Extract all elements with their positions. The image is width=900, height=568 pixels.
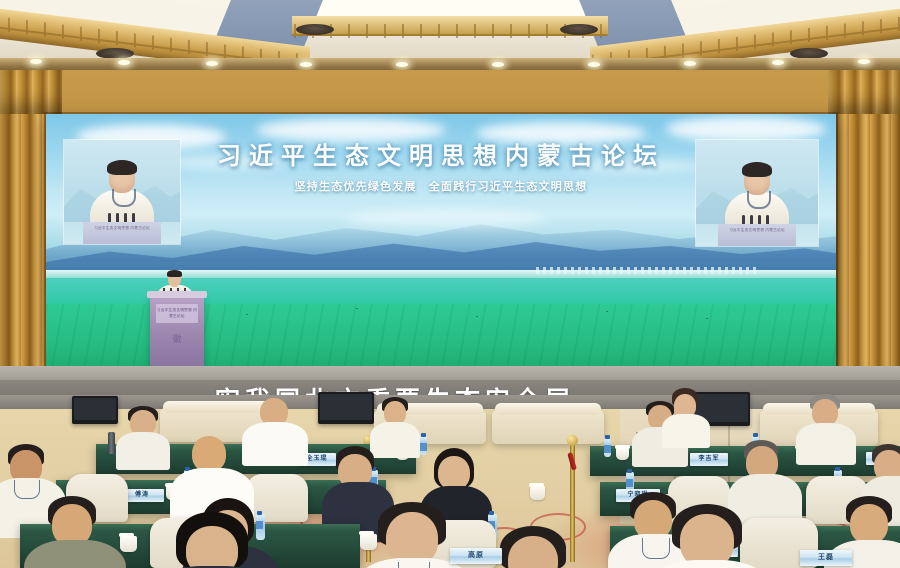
pip-podium-text: 习近平生态文明思想 内蒙古论坛 xyxy=(718,224,796,233)
pip-speaker-hair xyxy=(742,162,772,177)
tea-cup xyxy=(616,448,629,460)
curtain-valance-right xyxy=(828,70,900,114)
tea-cup xyxy=(120,536,137,552)
pip-speaker xyxy=(90,163,154,224)
cornice-center xyxy=(292,16,608,36)
podium-top xyxy=(147,291,207,298)
water-bottle xyxy=(256,514,265,540)
pip-podium-text: 习近平生态文明思想 内蒙古论坛 xyxy=(83,222,161,231)
downlight-icon xyxy=(206,61,218,66)
tea-cup xyxy=(360,534,377,550)
downlight-icon xyxy=(118,60,130,65)
nameplate: 王磊 xyxy=(800,550,852,566)
downlight-icon xyxy=(30,59,42,64)
downlight-icon xyxy=(588,62,600,67)
stage-monitor xyxy=(72,396,118,424)
lanyard-icon xyxy=(112,189,136,207)
right-pip-screen: 习近平生态文明思想 内蒙古论坛 xyxy=(696,140,818,246)
speaker-podium: 习近平生态文明思想 内蒙古论坛 徽 xyxy=(150,296,204,368)
left-pip-screen: 习近平生态文明思想 内蒙古论坛 xyxy=(64,140,180,244)
podium-emblem-icon: 徽 xyxy=(166,332,188,358)
seat-backrest xyxy=(495,403,601,415)
downlight-icon xyxy=(396,62,408,67)
lanyard-icon xyxy=(747,191,771,209)
podium-sign-text: 习近平生态文明思想 内蒙古论坛 xyxy=(156,304,198,323)
stanchion-finial-icon xyxy=(567,435,578,446)
tea-cup xyxy=(530,486,545,500)
ceiling-speaker-icon xyxy=(296,24,334,35)
nameplate: 李吉军 xyxy=(690,453,728,466)
downlight-icon xyxy=(772,60,784,65)
speaker-hair xyxy=(167,270,182,277)
ceiling-speaker-icon xyxy=(560,24,598,35)
thermos-flask xyxy=(108,432,115,454)
curtain-valance-left xyxy=(0,70,62,114)
downlight-icon xyxy=(684,61,696,66)
downlight-icon xyxy=(858,59,870,64)
nameplate: 高原 xyxy=(450,548,502,564)
water-bottle xyxy=(420,436,427,455)
pip-podium: 习近平生态文明思想 内蒙古论坛 xyxy=(83,222,161,244)
pip-speaker xyxy=(725,165,789,226)
pip-podium: 习近平生态文明思想 内蒙古论坛 xyxy=(718,224,796,246)
curtain-right xyxy=(828,70,900,372)
water-bottle xyxy=(604,438,611,457)
head-table-seat xyxy=(492,410,604,444)
pip-speaker-hair xyxy=(107,160,137,175)
downlight-icon xyxy=(300,62,312,67)
cloud xyxy=(346,210,546,228)
conference-hall-photo: 习近平生态文明思想内蒙古论坛 坚持生态优先绿色发展 全面践行习近平生态文明思想 … xyxy=(0,0,900,568)
stage-monitor xyxy=(318,392,374,424)
downlight-icon xyxy=(492,62,504,67)
